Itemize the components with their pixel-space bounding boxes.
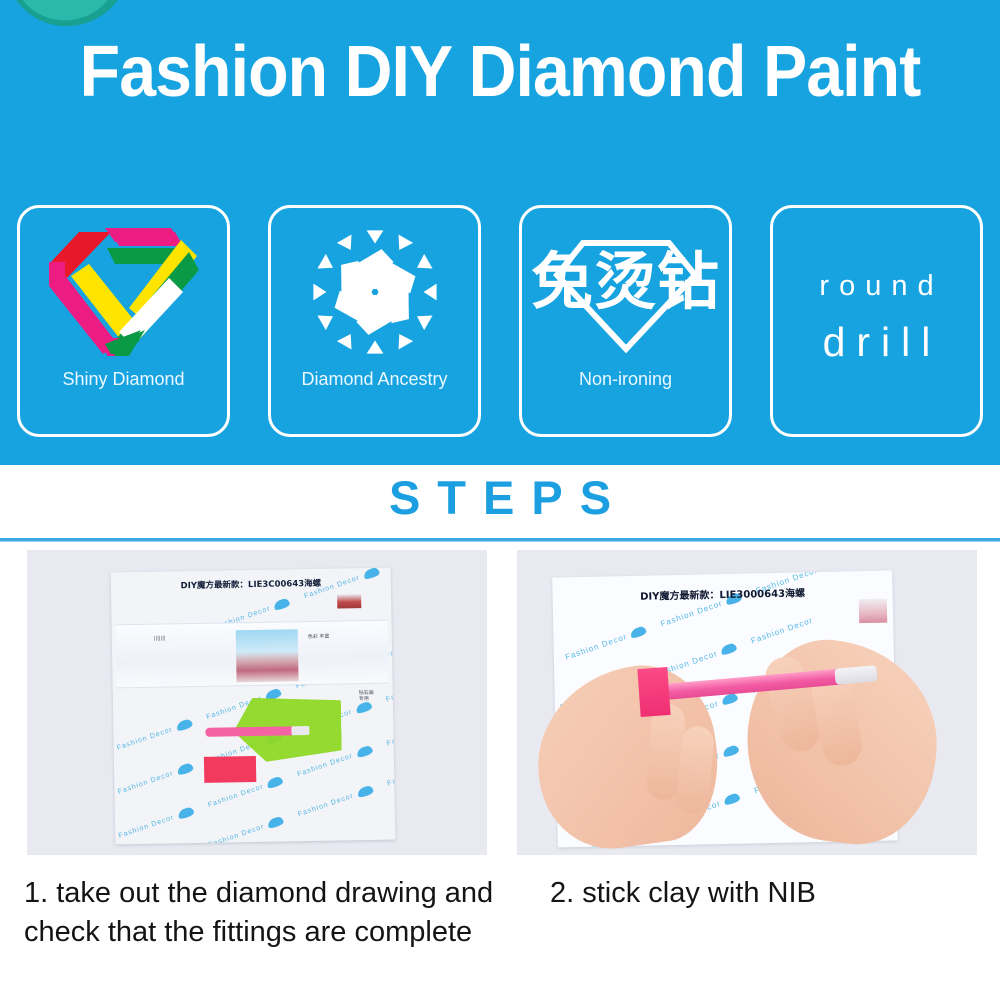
color-swatch-chip [337, 594, 361, 608]
round-drill-line2: drill [812, 317, 942, 368]
kit-package: Fashion DecorFashion DecorFashion DecorF… [111, 568, 396, 845]
product-infographic: Fashion DIY Diamond Paint [0, 0, 1000, 1000]
colorful-diamond-ribbon-icon [49, 226, 199, 358]
snowflake-mandala-icon [300, 222, 450, 362]
step-caption-1: 1. take out the diamond drawing and chec… [24, 874, 494, 951]
shiny-diamond-art [20, 216, 227, 368]
non-ironing-chinese-text: 免烫钻 [531, 251, 721, 313]
pink-pen [205, 726, 295, 737]
section-divider [0, 538, 1000, 541]
feature-box-list: Shiny Diamond [17, 205, 983, 437]
diamond-ancestry-art [271, 216, 478, 368]
feature-box-non-ironing: 免烫钻 Non-ironing [519, 205, 732, 437]
feature-label-shiny-diamond: Shiny Diamond [62, 370, 184, 388]
banner: Fashion DIY Diamond Paint [0, 0, 1000, 465]
step-photo-2: Fashion DecorFashion DecorFashion Decor … [517, 550, 977, 855]
feature-box-round-drill: round drill [770, 205, 983, 437]
round-drill-art: round drill [773, 202, 980, 434]
feature-label-non-ironing: Non-ironing [579, 370, 672, 388]
feature-label-diamond-ancestry: Diamond Ancestry [301, 370, 447, 388]
steps-heading: STEPS [0, 474, 1000, 521]
step-photo-1: Fashion DecorFashion DecorFashion DecorF… [27, 550, 487, 855]
feature-box-shiny-diamond: Shiny Diamond [17, 205, 230, 437]
feature-box-diamond-ancestry: Diamond Ancestry [268, 205, 481, 437]
red-clay [204, 756, 256, 783]
leaf-decoration-icon [5, 0, 136, 32]
pink-clay [637, 667, 670, 717]
page-title: Fashion DIY Diamond Paint [40, 36, 960, 108]
canvas-preview-swatch [859, 599, 887, 624]
side-text-strip: 钻石画专用 [359, 690, 378, 758]
canvas-preview-image [236, 629, 299, 682]
pen-tip [291, 726, 309, 735]
step-caption-2: 2. stick clay with NIB [550, 874, 980, 913]
non-ironing-art: 免烫钻 [522, 216, 729, 368]
round-drill-line1: round [809, 268, 943, 304]
